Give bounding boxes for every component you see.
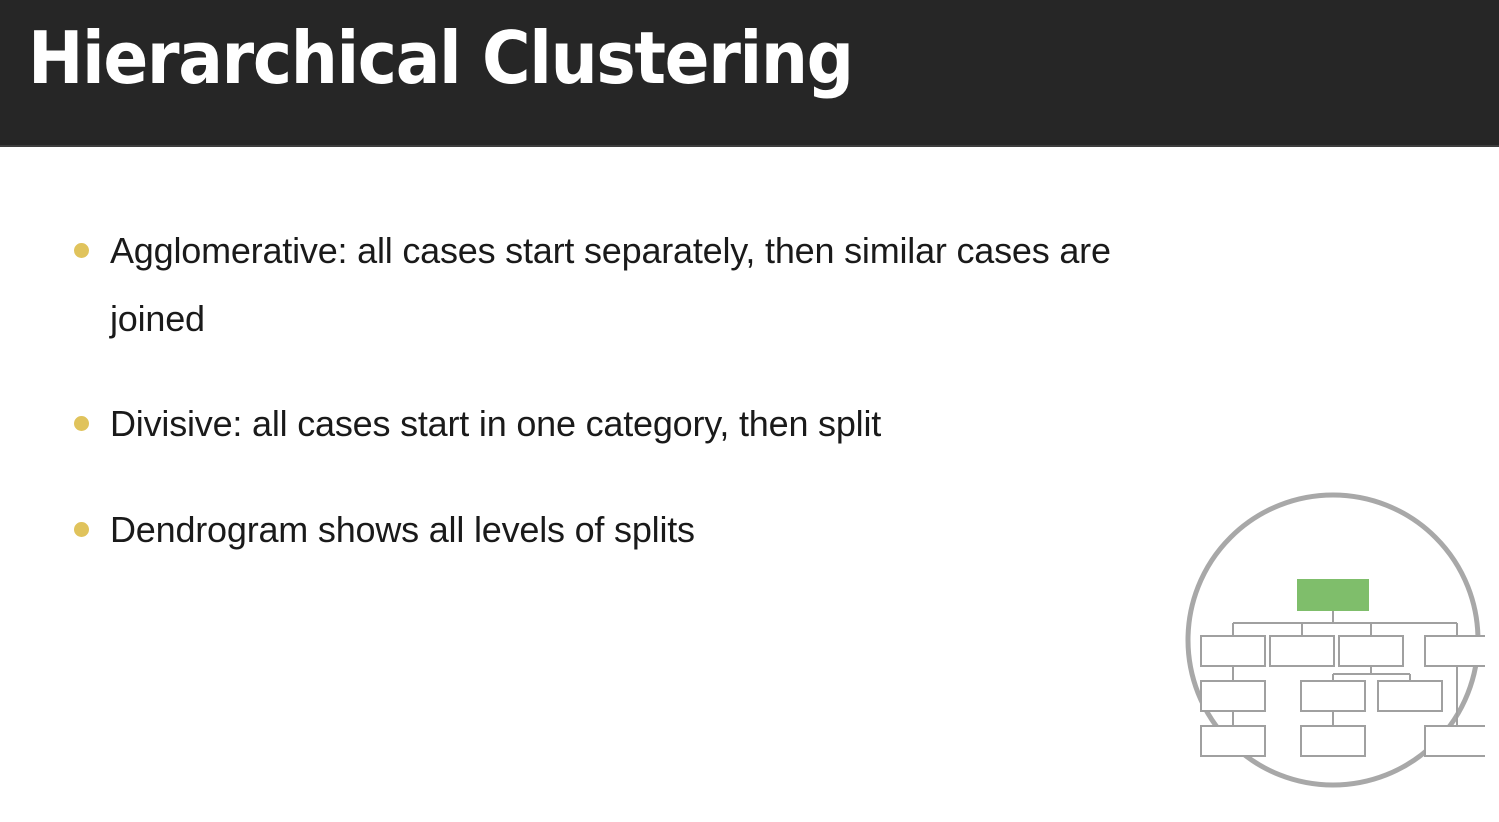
bullet-dot-icon — [74, 522, 89, 537]
list-item: Agglomerative: all cases start separatel… — [64, 217, 1154, 352]
slide-canvas: Hierarchical Clustering Agglomerative: a… — [0, 0, 1499, 822]
org-node-root — [1298, 580, 1368, 610]
page-title: Hierarchical Clustering — [28, 17, 853, 100]
bullet-dot-icon — [74, 243, 89, 258]
list-item: Divisive: all cases start in one categor… — [64, 390, 1154, 458]
org-node-l3-3 — [1378, 681, 1442, 711]
org-node-l3-1 — [1201, 681, 1265, 711]
bullet-text: Divisive: all cases start in one categor… — [110, 390, 1154, 458]
slide-header-bar: Hierarchical Clustering — [0, 0, 1499, 147]
org-node-l4-3 — [1425, 726, 1485, 756]
bullet-text: Agglomerative: all cases start separatel… — [110, 217, 1154, 352]
org-node-l4-1 — [1201, 726, 1265, 756]
org-node-l2-2 — [1270, 636, 1334, 666]
org-chart-graphic — [1185, 488, 1485, 822]
list-item: Dendrogram shows all levels of splits — [64, 496, 1154, 564]
bullet-list: Agglomerative: all cases start separatel… — [64, 217, 1154, 564]
org-node-l4-2 — [1301, 726, 1365, 756]
org-node-l2-1 — [1201, 636, 1265, 666]
bullet-text: Dendrogram shows all levels of splits — [110, 496, 1154, 564]
org-node-l2-3 — [1339, 636, 1403, 666]
org-node-l2-4 — [1425, 636, 1485, 666]
org-node-l3-2 — [1301, 681, 1365, 711]
bullet-dot-icon — [74, 416, 89, 431]
